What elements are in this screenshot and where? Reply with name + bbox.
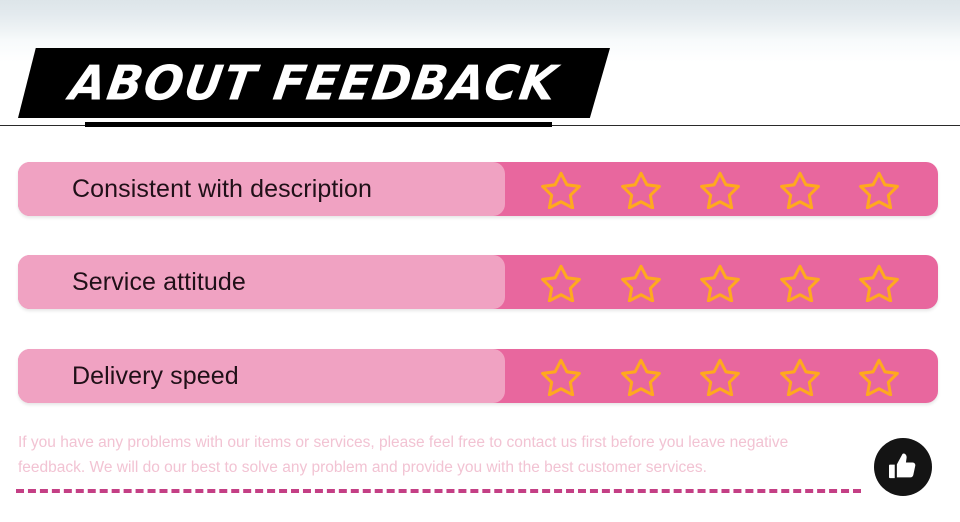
about-feedback-page: ABOUT FEEDBACK Consistent with descripti… xyxy=(0,0,960,522)
dashed-divider xyxy=(16,489,861,493)
star-outline-icon[interactable] xyxy=(699,262,779,302)
star-outline-icon[interactable] xyxy=(540,169,620,209)
rating-label: Service attitude xyxy=(18,268,246,297)
star-outline-icon[interactable] xyxy=(699,356,779,396)
star-outline-icon[interactable] xyxy=(858,169,938,209)
star-outline-icon[interactable] xyxy=(779,262,859,302)
rating-stars xyxy=(518,255,938,309)
star-outline-icon[interactable] xyxy=(540,356,620,396)
rating-label: Delivery speed xyxy=(18,362,239,391)
rating-row: Consistent with description xyxy=(18,162,938,216)
star-outline-icon[interactable] xyxy=(858,356,938,396)
rating-stars xyxy=(518,162,938,216)
rating-label: Consistent with description xyxy=(18,175,372,204)
thumbs-up-badge xyxy=(874,438,932,496)
star-outline-icon[interactable] xyxy=(858,262,938,302)
note-line-1: If you have any problems with our items … xyxy=(18,430,868,455)
thumbs-up-icon xyxy=(887,451,919,483)
star-outline-icon[interactable] xyxy=(779,356,859,396)
star-outline-icon[interactable] xyxy=(699,169,779,209)
rating-label-panel: Consistent with description xyxy=(18,162,505,216)
star-outline-icon[interactable] xyxy=(620,262,700,302)
rating-label-panel: Delivery speed xyxy=(18,349,505,403)
feedback-note: If you have any problems with our items … xyxy=(18,430,868,480)
star-outline-icon[interactable] xyxy=(540,262,620,302)
rating-row: Delivery speed xyxy=(18,349,938,403)
rating-label-panel: Service attitude xyxy=(18,255,505,309)
star-outline-icon[interactable] xyxy=(779,169,859,209)
rating-row: Service attitude xyxy=(18,255,938,309)
star-outline-icon[interactable] xyxy=(620,356,700,396)
rating-stars xyxy=(518,349,938,403)
note-line-2: feedback. We will do our best to solve a… xyxy=(18,455,868,480)
star-outline-icon[interactable] xyxy=(620,169,700,209)
